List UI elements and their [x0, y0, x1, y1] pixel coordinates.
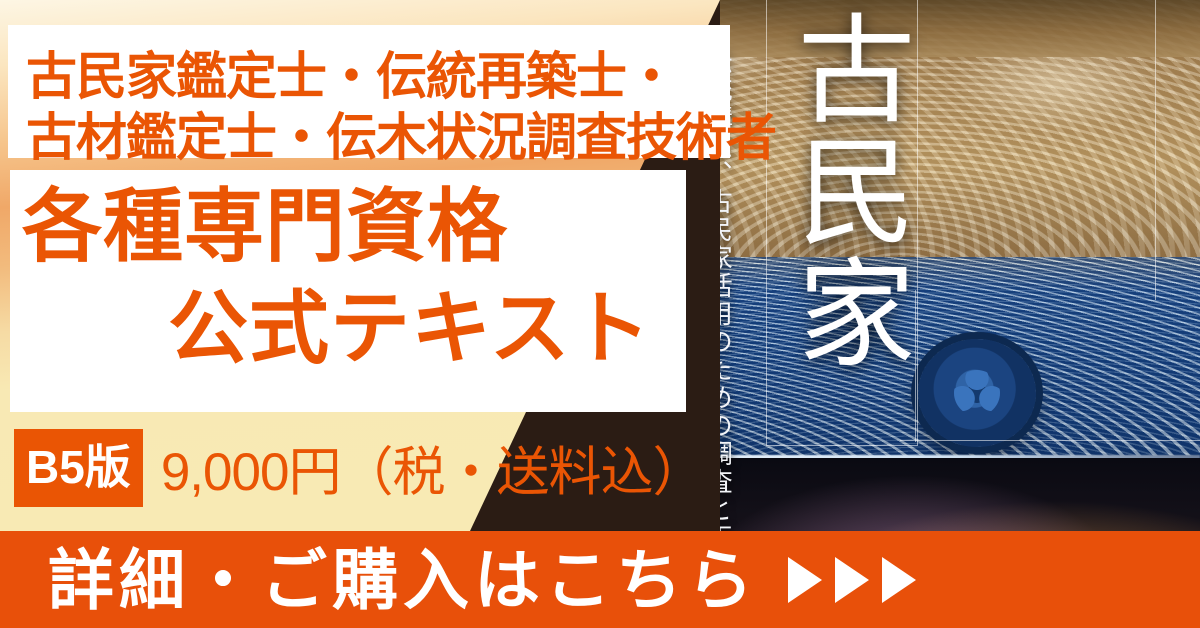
- family-crest-boss: [918, 339, 1036, 447]
- frame-line-vertical-right: [1155, 0, 1156, 300]
- main-title-line-2: 公式テキスト: [0, 280, 690, 378]
- headline-card: 古民家鑑定士・伝統再築士・ 古材鑑定士・伝木状況調査技術者: [8, 25, 730, 158]
- chevron-right-icon: [882, 557, 916, 603]
- headline-line-2: 古材鑑定士・伝木状況調査技術者: [26, 108, 726, 167]
- price-row: B5版 9,000円（税・送料込）: [0, 424, 704, 512]
- price-text: 9,000円（税・送料込）: [161, 430, 705, 506]
- qualifications-headline: 古民家鑑定士・伝統再築士・ 古材鑑定士・伝木状況調査技術者: [26, 47, 726, 167]
- cta-arrows: [788, 557, 916, 603]
- cta-bar[interactable]: 詳細・ご購入はこちら: [0, 531, 1200, 628]
- cta-label: 詳細・ご購入はこちら: [48, 547, 758, 613]
- chevron-right-icon: [788, 557, 822, 603]
- chevron-right-icon: [835, 557, 869, 603]
- main-title-line-1: 各種専門資格: [0, 178, 690, 276]
- headline-line-1: 古民家鑑定士・伝統再築士・: [26, 47, 726, 106]
- format-badge-b5: B5版: [14, 429, 143, 507]
- main-title: 各種専門資格 公式テキスト: [0, 178, 690, 377]
- frame-line-horizontal: [900, 440, 1200, 441]
- book-cover-title: 古民家: [770, 8, 914, 374]
- promo-banner: 古民家 伝統構法、古民家活用のための調査と再生の 古民家鑑定士・伝統再築士・ 古…: [0, 0, 1200, 628]
